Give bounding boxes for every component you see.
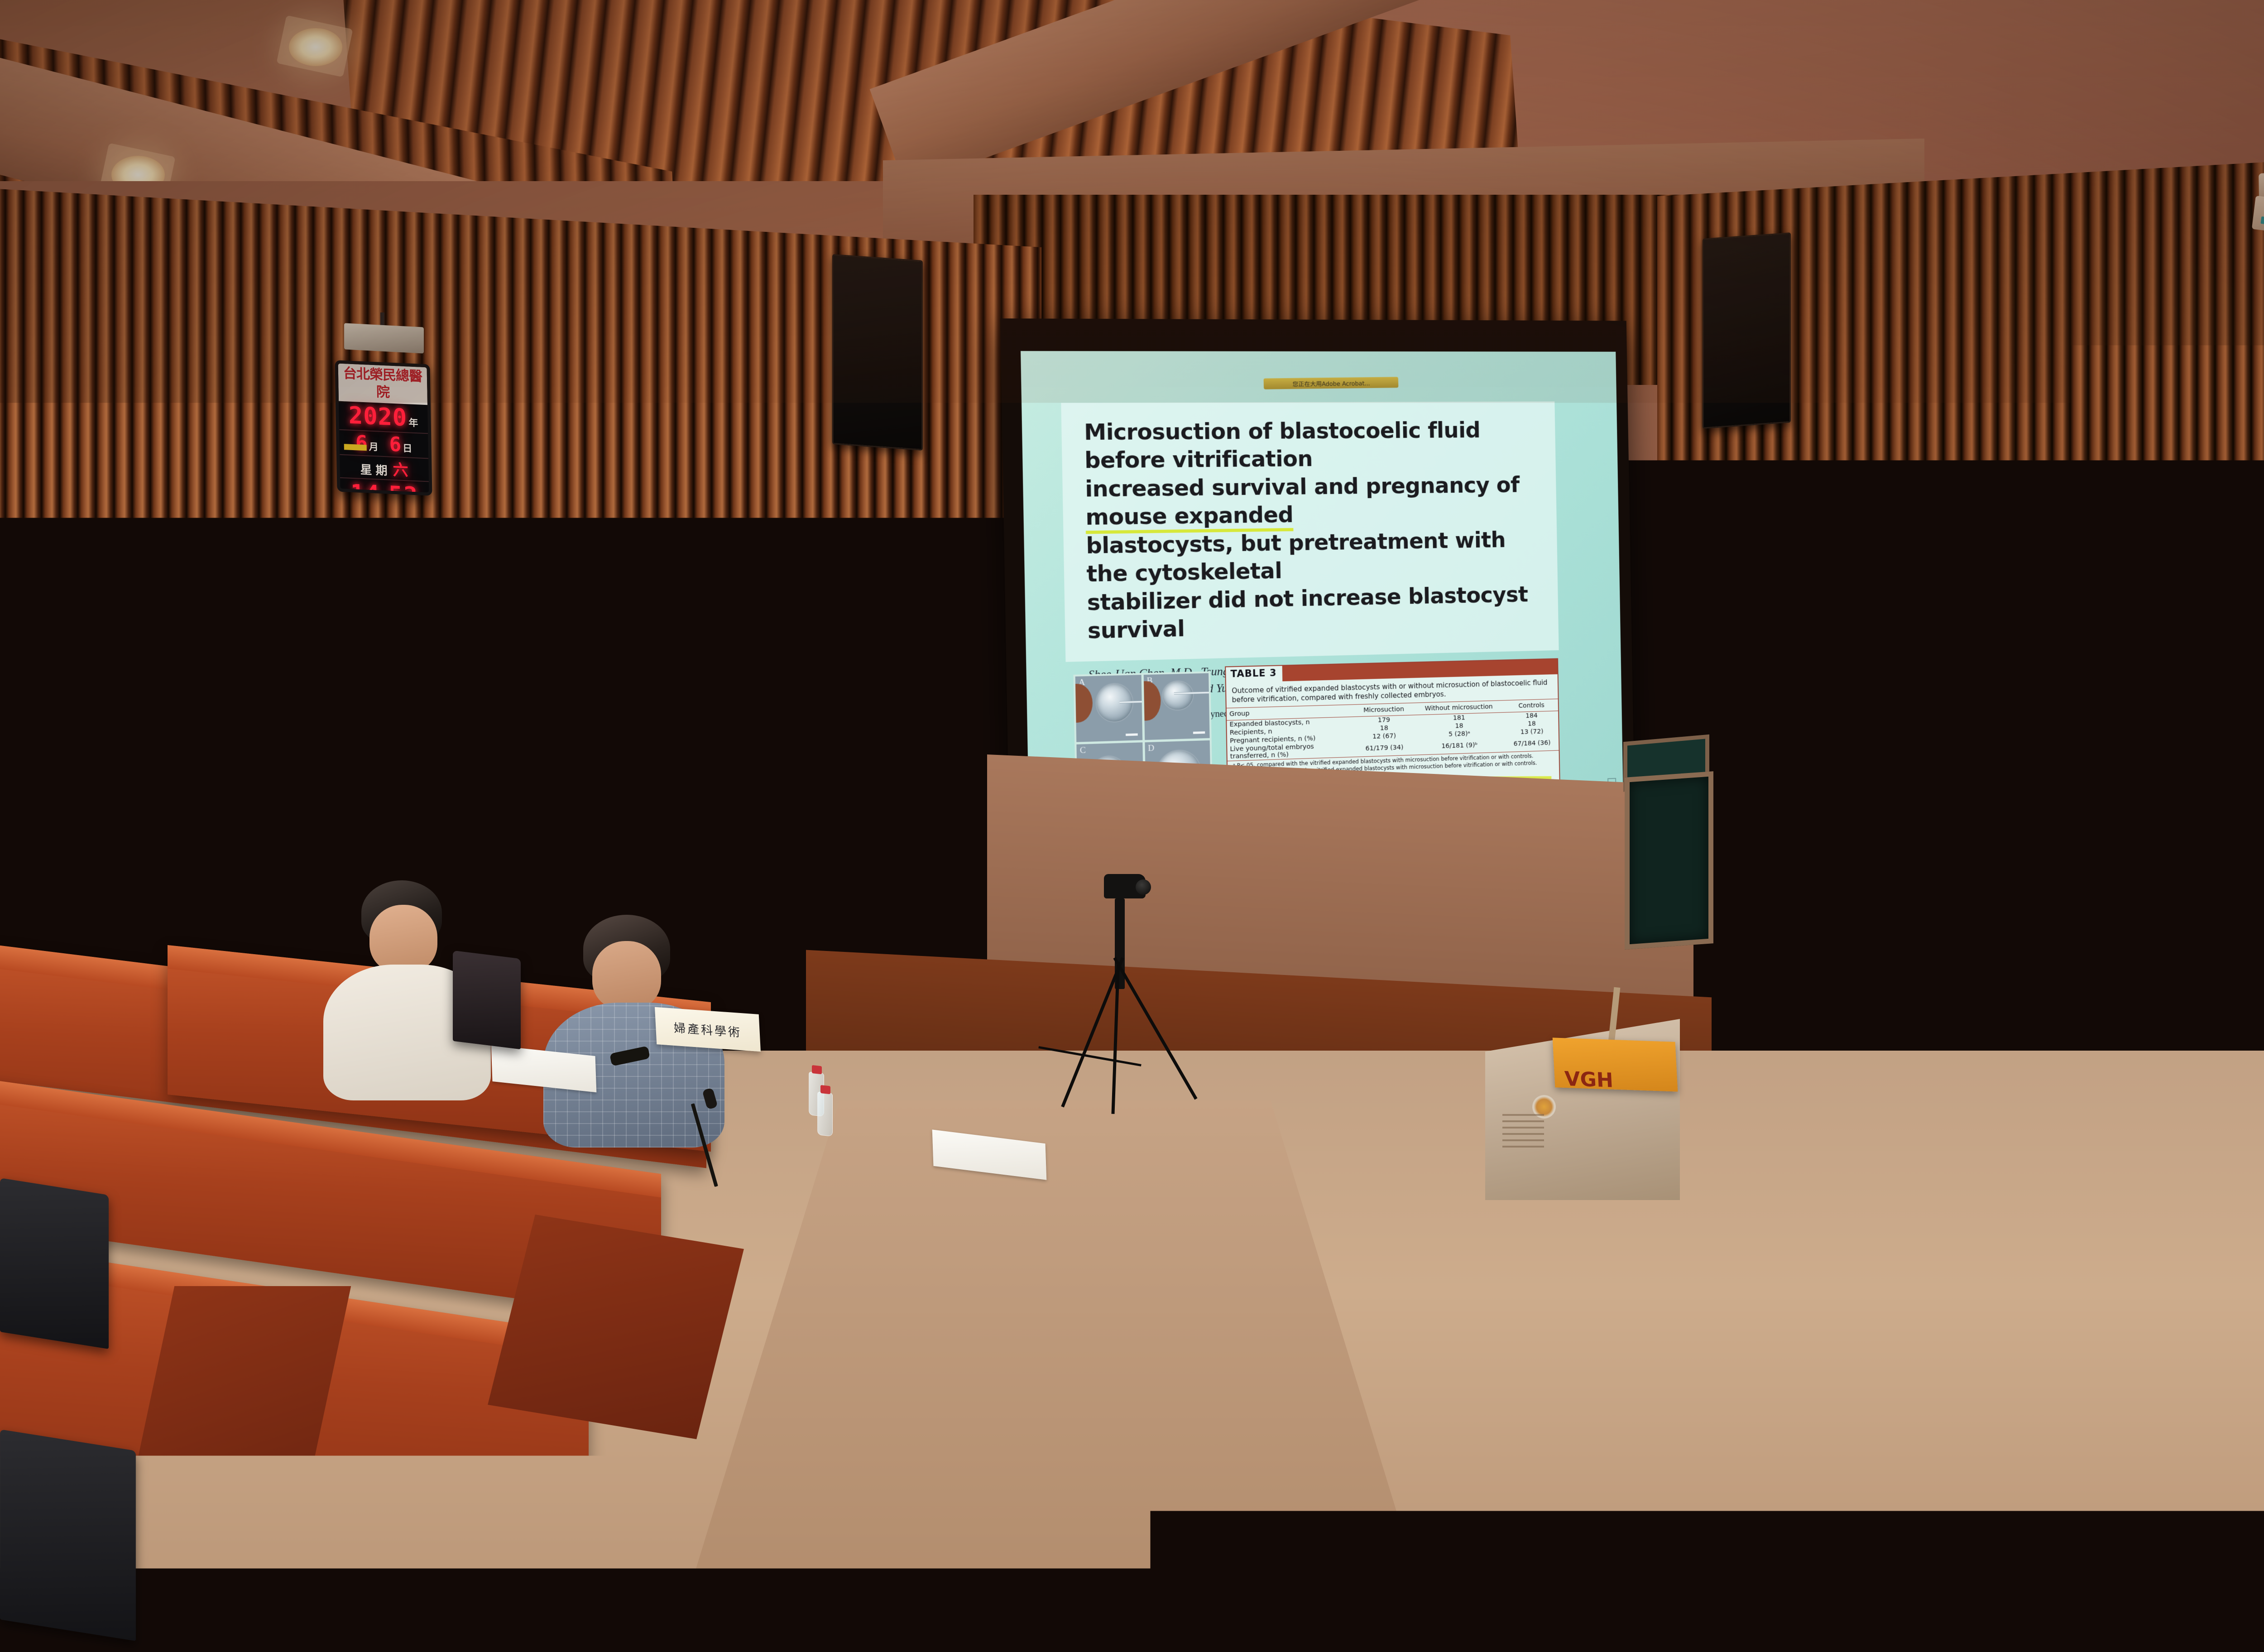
wall-speaker-right <box>1703 232 1791 429</box>
lectern-vent <box>1502 1114 1544 1150</box>
bottle-cap-icon <box>287 855 297 864</box>
camera-tripod <box>1055 874 1200 1119</box>
audience-chair-left-front[interactable] <box>471 1501 616 1652</box>
wall-speaker-left <box>832 254 923 451</box>
laptop-screen-preview-thumb <box>1541 1157 1595 1192</box>
figure-panel-d-label: D <box>1148 743 1154 754</box>
laptop-status-chip-2 <box>1550 1234 1557 1240</box>
wall-chalkboard <box>1625 771 1713 950</box>
person-attendee-far-right <box>2106 937 2264 1164</box>
slide-title-line-2: increased survival and pregnancy of <box>1085 472 1520 502</box>
blastocyst-b <box>1162 681 1193 711</box>
scale-bar-b <box>1193 731 1205 734</box>
laptop-screen-body-text <box>1542 1187 1596 1217</box>
slide-title-line-1: Microsuction of blastocoelic fluid befor… <box>1084 418 1481 474</box>
laptop-status-chip-3 <box>1559 1233 1565 1239</box>
laptop-status-chip-1 <box>1542 1235 1549 1242</box>
conference-booklet[interactable]: 婦產科學術 <box>655 1007 761 1052</box>
slide-title: Microsuction of blastocoelic fluid befor… <box>1084 417 1541 645</box>
acrobat-notification-bar[interactable]: 您正在大用Adobe Acrobat... <box>1263 377 1398 389</box>
table-3-label: TABLE 3 <box>1226 666 1282 682</box>
panel-chair[interactable] <box>0 829 77 941</box>
emergency-light-label <box>2261 216 2264 228</box>
water-bottle-row-2[interactable] <box>817 1091 833 1137</box>
cell-micro-3: 61/179 (34) <box>1355 740 1414 757</box>
laptop-screen-status-chips <box>1542 1229 1589 1242</box>
figure-panel-c-label: C <box>1080 745 1086 756</box>
table-col-microsuction: Microsuction <box>1355 703 1413 716</box>
led-clock-sign: 台北榮民總醫院 2020 年 6 月 6 日 星期 六 14 52 <box>335 360 432 495</box>
clock-day: 6 <box>389 432 401 457</box>
clock-year: 2020 <box>348 402 407 432</box>
clock-year-row: 2020 年 <box>339 401 428 434</box>
holding-pipette-b <box>1143 681 1161 721</box>
papers-panel-desk[interactable] <box>220 906 301 939</box>
injection-pipette-a <box>1119 701 1142 703</box>
clock-month-unit: 月 <box>369 440 379 454</box>
bottle-cap-icon <box>820 1085 830 1094</box>
injection-pipette-b <box>1174 692 1209 695</box>
projected-slide: 您正在大用Adobe Acrobat... Microsuction of bl… <box>1021 351 1623 813</box>
clock-week-label: 星期 <box>360 461 391 479</box>
clock-minute: 52 <box>389 481 419 496</box>
laptop-status-chip-4 <box>1567 1232 1573 1238</box>
cell-controls-3: 67/184 (36) <box>1505 735 1559 752</box>
foreground-torso <box>1576 1295 2092 1652</box>
person-foreground-white <box>1612 1096 2106 1652</box>
figure-panel-b: B <box>1143 673 1209 740</box>
audience-chair-left-2[interactable] <box>0 1429 136 1641</box>
slide-title-line-3: blastocysts, but pretreatment with the c… <box>1086 527 1506 587</box>
water-bottle-panel-2[interactable] <box>283 862 299 907</box>
bottle-cap-icon <box>217 849 227 858</box>
downlight-1 <box>289 28 342 66</box>
table-col-controls: Controls <box>1505 699 1558 712</box>
camera-lens-icon <box>1136 879 1151 895</box>
clock-month: 6 <box>355 431 368 455</box>
bottle-cap-icon <box>812 1065 822 1074</box>
figure-panel-a: A <box>1075 675 1142 742</box>
slide-title-line-4: stabilizer did not increase blastocyst s… <box>1087 582 1528 644</box>
laptop-screen-thumb-caption <box>1549 1175 1581 1186</box>
clock-top-plate <box>344 323 424 353</box>
slide-title-block: Microsuction of blastocoelic fluid befor… <box>1061 401 1559 662</box>
gift-bag-figures-front <box>156 895 215 915</box>
laptop-status-chip-5 <box>1575 1230 1581 1237</box>
gift-bag-figures-rear <box>230 850 281 869</box>
tripod-leg-left <box>1113 957 1197 1100</box>
gift-bag-photo-rear <box>220 834 291 879</box>
scene-root: 台北榮民總醫院 2020 年 6 月 6 日 星期 六 14 52 您正在大用A… <box>0 0 2264 1652</box>
conference-booklet-text: 婦產科學術 <box>673 1018 742 1040</box>
clock-year-unit: 年 <box>408 415 418 429</box>
audience-chair-left-3[interactable] <box>453 951 521 1049</box>
clock-weekday-row: 星期 六 <box>340 455 429 482</box>
scale-bar-a <box>1126 733 1138 736</box>
audience-chair-left-1[interactable] <box>0 1178 109 1349</box>
clock-day-unit: 日 <box>403 441 413 455</box>
attendee-2-head <box>592 941 661 1010</box>
laptop-status-chip-6 <box>1583 1229 1589 1235</box>
clock-hospital-name: 台北榮民總醫院 <box>338 364 427 405</box>
clock-weekday: 六 <box>393 457 408 480</box>
water-bottle-panel-1[interactable] <box>214 855 229 900</box>
attendee-far-right-torso <box>2096 1034 2264 1179</box>
holding-pipette-a <box>1075 683 1093 723</box>
clock-indicator-bar <box>344 444 367 451</box>
attendee-1-head <box>369 905 437 973</box>
slide-title-highlight: mouse expanded <box>1085 502 1294 534</box>
